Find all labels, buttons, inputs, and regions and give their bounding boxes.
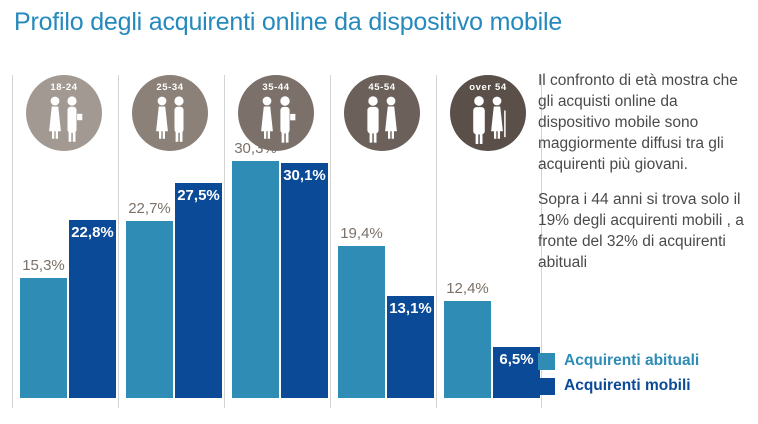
bar-rect <box>444 301 491 398</box>
age-group-over-54: over 5412,4%6,5% <box>436 62 542 414</box>
bar-value-label: 22,8% <box>69 224 116 241</box>
bar-pair: 15,3%22,8% <box>18 148 118 398</box>
bar-chart: 18-2415,3%22,8%25-3422,7%27,5%35-4430,3%… <box>0 62 530 414</box>
age-label: 18-24 <box>26 82 102 93</box>
bar-value-label: 15,3% <box>20 257 67 274</box>
age-label: 45-54 <box>344 82 420 93</box>
group-divider <box>224 75 225 408</box>
bar-habitual: 30,3% <box>232 161 279 398</box>
bar-rect <box>338 246 385 398</box>
legend-label: Acquirenti mobili <box>564 377 691 395</box>
bar-pair: 22,7%27,5% <box>124 148 224 398</box>
bar-value-label: 27,5% <box>175 187 222 204</box>
age-label: 35-44 <box>238 82 314 93</box>
bar-pair: 30,3%30,1% <box>230 148 330 398</box>
bar-habitual: 19,4% <box>338 246 385 398</box>
page-title: Profilo degli acquirenti online da dispo… <box>14 8 562 37</box>
bar-value-label: 22,7% <box>126 200 173 217</box>
legend-item-habitual[interactable]: Acquirenti abituali <box>538 352 754 370</box>
bar-rect <box>281 163 328 398</box>
chart-legend: Acquirenti abitualiAcquirenti mobili <box>538 352 754 402</box>
bar-mobile: 27,5% <box>175 183 222 398</box>
group-divider <box>436 75 437 408</box>
bar-value-label: 12,4% <box>444 280 491 297</box>
age-group-25-34: 25-3422,7%27,5% <box>118 62 224 414</box>
bar-mobile: 13,1% <box>387 296 434 398</box>
age-circle-over-54: over 54 <box>450 75 526 151</box>
bar-rect <box>20 278 67 398</box>
bar-rect <box>69 220 116 398</box>
legend-label: Acquirenti abituali <box>564 352 699 370</box>
age-group-18-24: 18-2415,3%22,8% <box>12 62 118 414</box>
legend-swatch <box>538 378 555 395</box>
group-divider <box>118 75 119 408</box>
bar-value-label: 19,4% <box>338 225 385 242</box>
commentary-paragraph-1: Il confronto di età mostra che gli acqui… <box>538 70 754 175</box>
age-label: 25-34 <box>132 82 208 93</box>
bar-mobile: 30,1% <box>281 163 328 398</box>
bar-value-label: 30,1% <box>281 167 328 184</box>
bar-habitual: 22,7% <box>126 221 173 398</box>
bar-rect <box>232 161 279 398</box>
age-group-35-44: 35-4430,3%30,1% <box>224 62 330 414</box>
commentary-text: Il confronto di età mostra che gli acqui… <box>538 70 754 287</box>
bar-value-label: 30,3% <box>232 140 279 157</box>
bar-value-label: 13,1% <box>387 300 434 317</box>
bar-value-label: 6,5% <box>493 351 540 368</box>
bar-rect <box>126 221 173 398</box>
age-circle-25-34: 25-34 <box>132 75 208 151</box>
age-group-45-54: 45-5419,4%13,1% <box>330 62 436 414</box>
legend-item-mobile[interactable]: Acquirenti mobili <box>538 377 754 395</box>
bar-pair: 12,4%6,5% <box>442 148 542 398</box>
bar-mobile: 6,5% <box>493 347 540 398</box>
bar-habitual: 12,4% <box>444 301 491 398</box>
group-divider <box>330 75 331 408</box>
bar-mobile: 22,8% <box>69 220 116 398</box>
bar-rect <box>175 183 222 398</box>
legend-swatch <box>538 353 555 370</box>
bar-habitual: 15,3% <box>20 278 67 398</box>
group-divider <box>12 75 13 408</box>
bar-pair: 19,4%13,1% <box>336 148 436 398</box>
age-label: over 54 <box>450 82 526 93</box>
age-circle-45-54: 45-54 <box>344 75 420 151</box>
commentary-paragraph-2: Sopra i 44 anni si trova solo il 19% deg… <box>538 189 754 273</box>
age-circle-18-24: 18-24 <box>26 75 102 151</box>
